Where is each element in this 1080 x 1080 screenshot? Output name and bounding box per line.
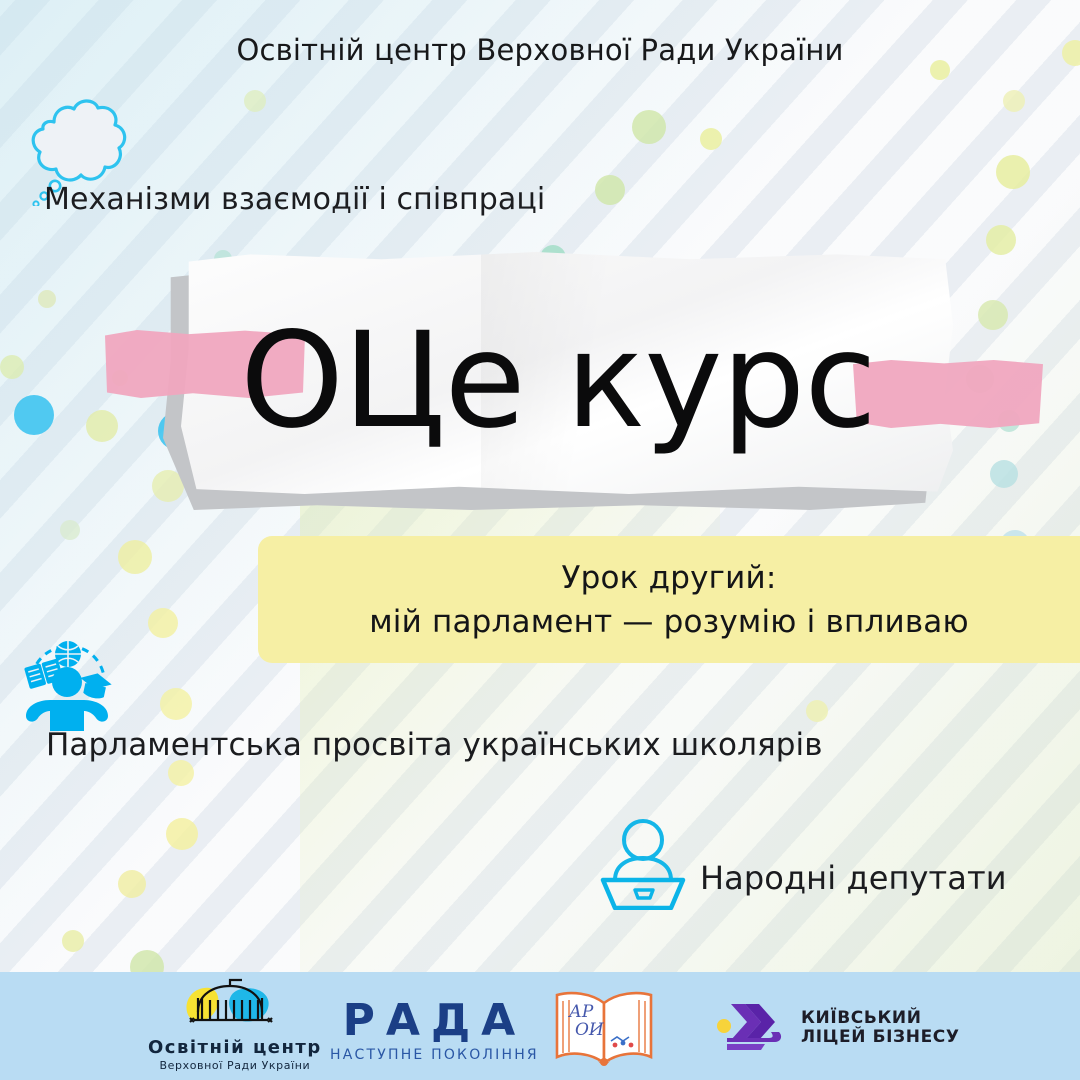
lesson-subtitle: мій парламент — розумію і впливаю [369,604,969,640]
decorative-dot [700,128,722,150]
torn-paper-card: ОЦе курс [163,252,953,510]
purple-chevrons-icon [715,1000,789,1056]
kyivskyi-litsey-biznesu-logo[interactable]: КИЇВСЬКИЙ ЛІЦЕЙ БІЗНЕСУ [715,1000,960,1056]
osvitniy-tsentr-subtitle: Верховної Ради України [159,1059,310,1072]
decorative-dot [118,870,146,898]
decorative-dot [168,760,194,786]
decorative-dot [632,110,666,144]
decorative-dot [118,540,152,574]
svg-text:АР: АР [568,1002,594,1022]
parliamentary-education-caption: Парламентська просвіта українських школя… [46,727,823,763]
person-at-desk-icon [595,818,691,914]
osvitniy-tsentr-name: Освітній центр [148,1037,322,1058]
rada-logo[interactable]: РАДА НАСТУПНЕ ПОКОЛІННЯ [330,1000,539,1063]
page-title: Освітній центр Верховної Ради України [0,33,1080,67]
decorative-dot [595,175,625,205]
open-book-icon: АР ОИ [545,985,663,1071]
parliament-building-icon [176,978,294,1036]
decorative-dot [1003,90,1025,112]
decorative-dot [62,930,84,952]
decorative-dot [166,818,198,850]
svg-text:ОИ: ОИ [575,1020,605,1040]
decorative-dot [148,608,178,638]
lesson-banner: Урок другий: мій парламент — розумію і в… [258,536,1080,663]
slide-root: Освітній центр Верховної Ради України Ме… [0,0,1080,1080]
decorative-dot [978,300,1008,330]
student-globe-book-cap-icon [16,632,118,736]
decorative-dot [0,355,24,379]
decorative-dot [14,395,54,435]
mechanisms-caption: Механізми взаємодії і співпраці [44,182,545,217]
decorative-dot [160,688,192,720]
deputies-caption: Народні депутати [700,859,1007,897]
osvitniy-tsentr-logo[interactable]: Освітній центр Верховної Ради України [148,978,322,1072]
course-title: ОЦе курс [163,252,953,510]
decorative-dot [996,155,1030,189]
decorative-dot [244,90,266,112]
aroi-logo[interactable]: АР ОИ [545,985,663,1071]
decorative-dot [60,520,80,540]
decorative-dot [806,700,828,722]
decorative-dot [38,290,56,308]
klb-line1: КИЇВСЬКИЙ [801,1009,960,1028]
decorative-dot [86,410,118,442]
decorative-dot [990,460,1018,488]
rada-tagline: НАСТУПНЕ ПОКОЛІННЯ [330,1047,539,1063]
rada-wordmark: РАДА [343,1000,527,1042]
klb-line2: ЛІЦЕЙ БІЗНЕСУ [801,1028,960,1047]
lesson-number: Урок другий: [562,560,777,596]
decorative-dot [986,225,1016,255]
